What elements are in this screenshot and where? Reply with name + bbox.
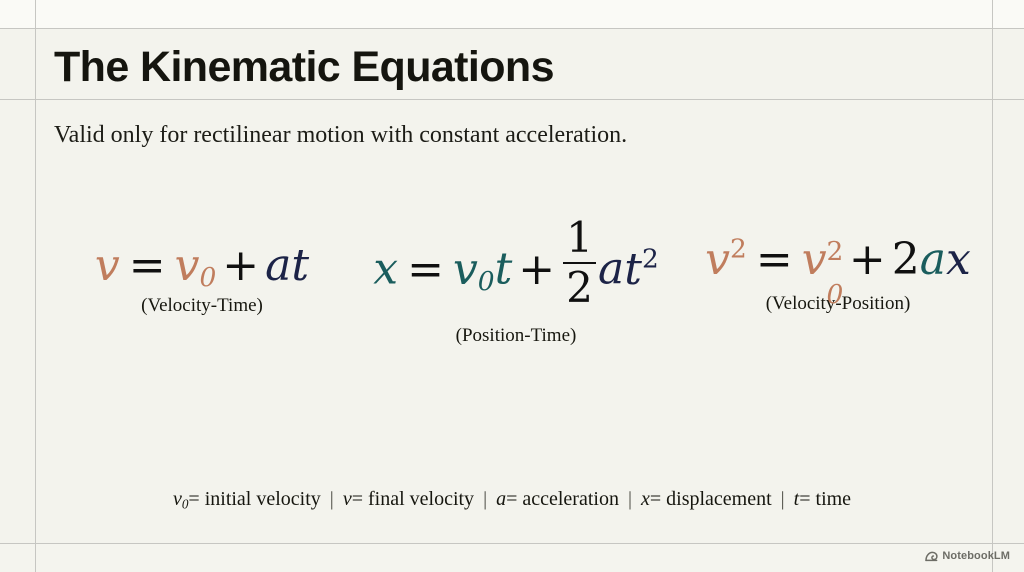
equation-velocity-position-math: v2=v20+2ax [684,237,992,283]
page-subtitle: Valid only for rectilinear motion with c… [54,120,627,150]
legend-symbol-x: x [641,488,650,510]
eq3-token-equals: = [747,234,802,285]
eq2-fraction-denominator: 2 [563,266,596,309]
eq1-token-v: v [95,240,120,291]
legend-separator-3: | [619,488,641,510]
guide-rule-right [992,0,993,572]
notebooklm-watermark: NotebookLM [925,550,1010,562]
equation-velocity-time: v=v0+at (Velocity-Time) [42,243,362,317]
equation-position-time: x=v0t+12at2 (Position-Time) [366,217,666,347]
eq2-token-t: t [495,244,513,295]
eq3-token-plus: + [843,234,892,285]
eq2-token-plus: + [512,244,561,295]
equation-velocity-time-math: v=v0+at [42,243,362,289]
eq3-token-x: x [946,234,971,285]
equation-velocity-time-caption: (Velocity-Time) [42,295,362,317]
eq1-token-v0: v0 [175,240,217,291]
legend-definition-a: = acceleration [506,488,619,510]
eq1-token-plus: + [216,240,265,291]
legend-definition-v: = final velocity [352,488,474,510]
eq1-token-a: a [265,240,291,291]
eq2-fraction-one-half: 12 [563,217,596,309]
eq3-token-a: a [920,234,946,285]
guide-rule-bottom [0,543,1024,544]
notebooklm-watermark-label: NotebookLM [942,550,1010,562]
eq1-token-t: t [291,240,309,291]
legend-separator-1: | [321,488,343,510]
slide-canvas: The Kinematic Equations Valid only for r… [0,0,1024,572]
eq2-token-x: x [373,244,398,295]
equation-position-time-caption: (Position-Time) [366,325,666,347]
legend-symbol-a: a [496,488,506,510]
legend-separator-2: | [474,488,496,510]
equations-row: v=v0+at (Velocity-Time) x=v0t+12at2 (Pos… [36,215,992,390]
legend-separator-4: | [772,488,794,510]
legend-definition-x: = displacement [650,488,772,510]
top-margin-band [0,0,1024,28]
eq2-fraction-numerator: 1 [563,217,596,260]
legend-definition-t: = time [799,488,851,510]
symbol-legend: v0= initial velocity|v= final velocity|a… [0,488,1024,511]
guide-rule-top [0,28,1024,29]
equation-velocity-position: v2=v20+2ax (Velocity-Position) [684,237,992,315]
eq2-token-equals: = [398,244,453,295]
equation-position-time-math: x=v0t+12at2 [366,217,666,309]
eq3-token-v0-squared: v20 [802,234,843,285]
page-title: The Kinematic Equations [54,42,554,92]
guide-rule-under-title [0,99,1024,100]
legend-symbol-v: v [343,488,352,510]
eq2-token-a: a [598,244,624,295]
eq3-token-two: 2 [892,234,920,285]
bottom-margin-band [0,544,1024,572]
legend-symbol-v0: v0 [173,488,188,510]
eq2-token-v0: v0 [453,244,495,295]
eq1-token-equals: = [120,240,175,291]
eq2-token-t-squared: t2 [624,244,658,295]
eq3-token-v-squared: v2 [705,234,747,285]
notebooklm-logo-icon [925,551,938,562]
legend-definition-v0: = initial velocity [188,488,320,510]
